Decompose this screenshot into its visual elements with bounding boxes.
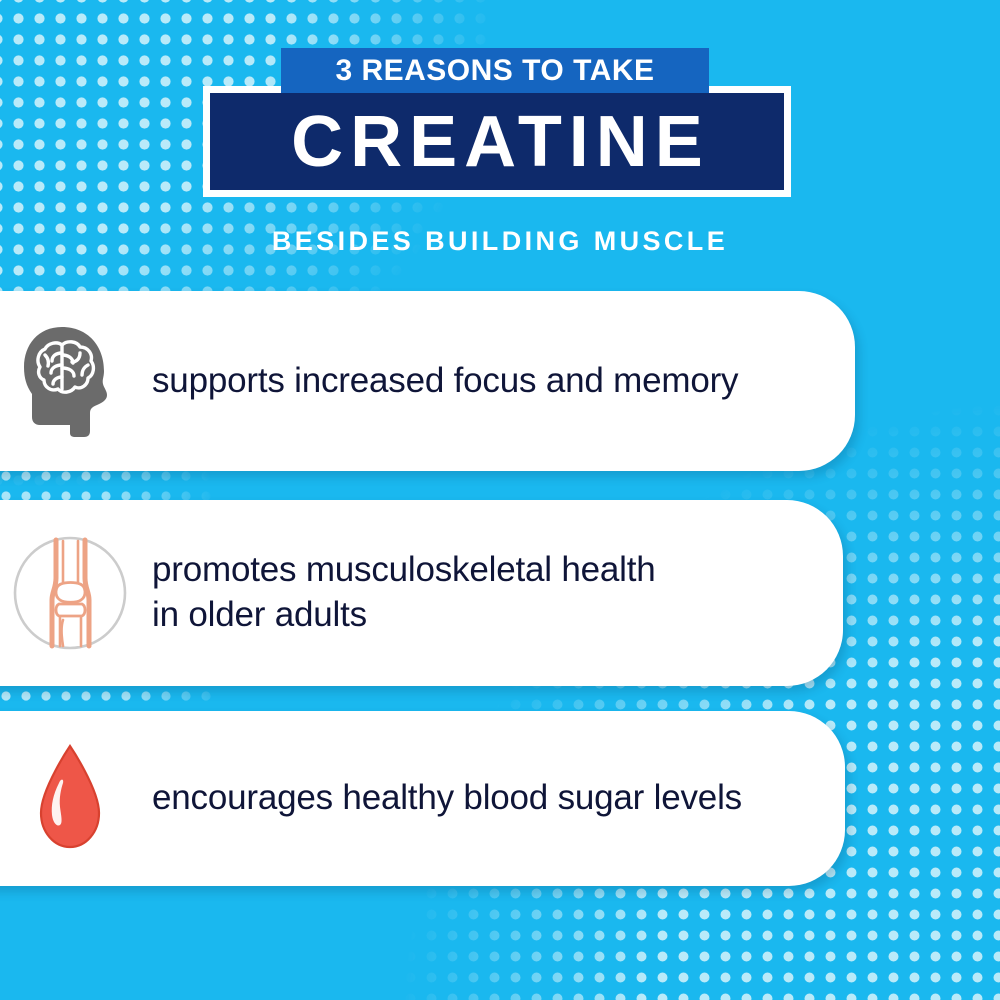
benefit-card-blood-sugar: encourages healthy blood sugar levels <box>0 711 845 886</box>
benefit-card-musculoskeletal-health: promotes musculoskeletal health in older… <box>0 500 843 686</box>
benefit-card-text: supports increased focus and memory <box>152 359 815 404</box>
blood-drop-icon <box>0 743 140 855</box>
benefit-card-focus-memory: supports increased focus and memory <box>0 291 855 471</box>
title-box: CREATINE <box>210 93 784 190</box>
eyebrow-banner: 3 REASONS TO TAKE <box>281 48 709 93</box>
benefit-text-line: encourages healthy blood sugar levels <box>152 776 805 821</box>
header: 3 REASONS TO TAKE CREATINE BESIDES BUILD… <box>0 0 1000 285</box>
page-title: CREATINE <box>210 106 784 178</box>
benefit-card-text: promotes musculoskeletal health in older… <box>152 548 803 638</box>
subtitle: BESIDES BUILDING MUSCLE <box>0 226 1000 257</box>
benefit-text-line: supports increased focus and memory <box>152 359 815 404</box>
brain-head-icon <box>0 323 140 439</box>
title-frame: CREATINE <box>203 86 791 197</box>
knee-joint-icon <box>0 534 140 652</box>
infographic-canvas: 3 REASONS TO TAKE CREATINE BESIDES BUILD… <box>0 0 1000 1000</box>
benefit-text-line: promotes musculoskeletal health <box>152 548 803 593</box>
benefit-text-line: in older adults <box>152 593 803 638</box>
benefit-card-text: encourages healthy blood sugar levels <box>152 776 805 821</box>
halftone-dots-bottom-right <box>400 400 1000 1000</box>
eyebrow-text: 3 REASONS TO TAKE <box>281 48 709 93</box>
